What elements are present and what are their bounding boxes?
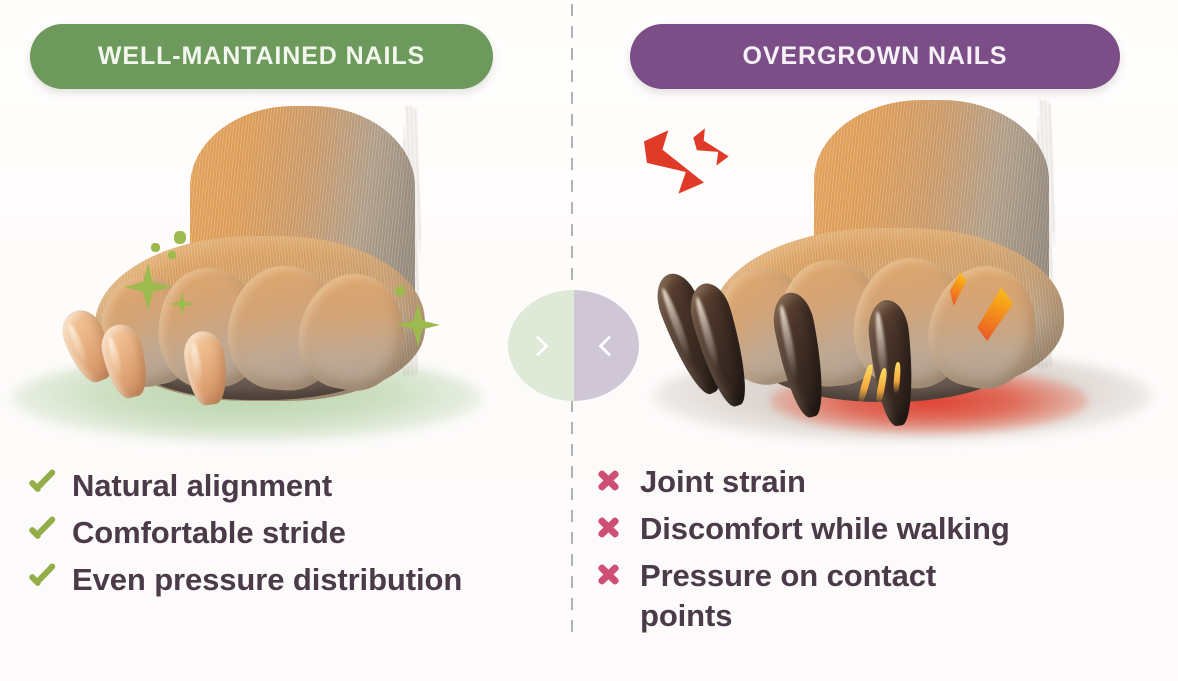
list-item: Natural alignment: [26, 466, 566, 506]
list-item-label: Comfortable stride: [72, 513, 346, 553]
knob-half-left: [508, 290, 574, 401]
check-icon: [26, 560, 56, 600]
x-icon: [594, 556, 624, 596]
list-item-label: Joint strain: [640, 462, 806, 502]
nail-gloss: [66, 323, 90, 367]
list-item-label: Natural alignment: [72, 466, 332, 506]
nail-gloss: [189, 342, 203, 387]
panel-well-maintained: WELL-MANTAINED NAILS: [0, 0, 572, 681]
check-icon: [26, 513, 56, 553]
sparkle-dot: [151, 243, 160, 252]
sparkle-dot: [174, 231, 186, 244]
comparison-infographic: WELL-MANTAINED NAILS: [0, 0, 1178, 681]
illustration-well-maintained-paw: [0, 96, 572, 456]
nail-gloss: [659, 287, 693, 361]
list-item: Joint strain: [594, 462, 1154, 502]
chevron-right-icon: [527, 335, 548, 356]
panel-overgrown: OVERGROWN NAILS: [572, 0, 1178, 681]
list-item-label: Pressure on contact points: [640, 556, 1020, 635]
list-item-label: Discomfort while walking: [640, 509, 1010, 549]
risks-list: Joint strain Discomfort while walking Pr…: [594, 462, 1154, 642]
sparkle-dot: [395, 286, 405, 296]
badge-well-maintained-nails: WELL-MANTAINED NAILS: [30, 24, 493, 89]
x-icon: [594, 462, 624, 502]
list-item: Even pressure distribution: [26, 560, 566, 600]
list-item-label: Even pressure distribution: [72, 560, 462, 600]
comparison-slider-knob[interactable]: [508, 290, 639, 401]
illustration-overgrown-paw: [572, 96, 1178, 456]
badge-overgrown-nails: OVERGROWN NAILS: [630, 24, 1120, 89]
nail-gloss: [106, 336, 125, 381]
chevron-left-icon: [599, 335, 620, 356]
knob-half-right: [574, 290, 640, 401]
x-icon: [594, 509, 624, 549]
list-item: Discomfort while walking: [594, 509, 1154, 549]
benefits-list: Natural alignment Comfortable stride Eve…: [26, 466, 566, 607]
pain-arrow-icon: [693, 127, 730, 167]
check-icon: [26, 466, 56, 506]
sparkle-dot: [168, 251, 176, 259]
list-item: Comfortable stride: [26, 513, 566, 553]
list-item: Pressure on contact points: [594, 556, 1154, 635]
